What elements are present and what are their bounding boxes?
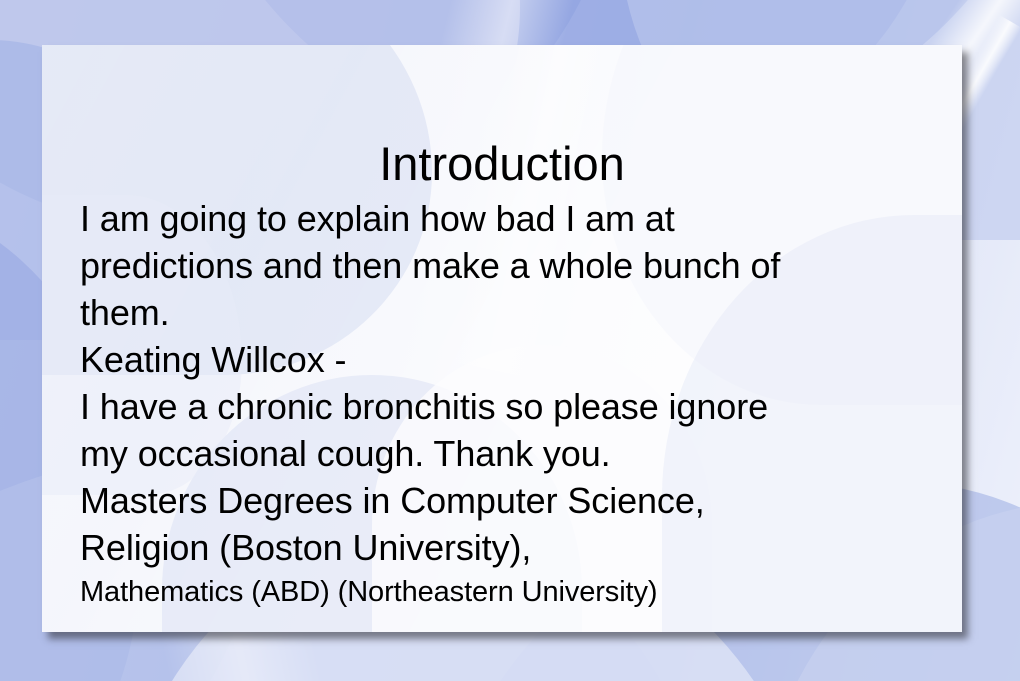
slide-body-line: Mathematics (ABD) (Northeastern Universi… [80,571,952,613]
slide-title: Introduction [42,139,962,189]
slide-body-line: them. [80,289,952,336]
slide-body-line: my occasional cough. Thank you. [80,430,952,477]
slide-body-line: I am going to explain how bad I am at [80,195,952,242]
slide-body-line: Keating Willcox - [80,336,952,383]
presentation-slide: Introduction I am going to explain how b… [0,0,1020,681]
slide-body-text: I am going to explain how bad I am atpre… [80,195,952,613]
slide-body-line: I have a chronic bronchitis so please ig… [80,383,952,430]
slide-body-line: predictions and then make a whole bunch … [80,242,952,289]
slide-content-panel: Introduction I am going to explain how b… [42,45,962,632]
slide-body-line: Religion (Boston University), [80,524,952,571]
slide-body-line: Masters Degrees in Computer Science, [80,477,952,524]
